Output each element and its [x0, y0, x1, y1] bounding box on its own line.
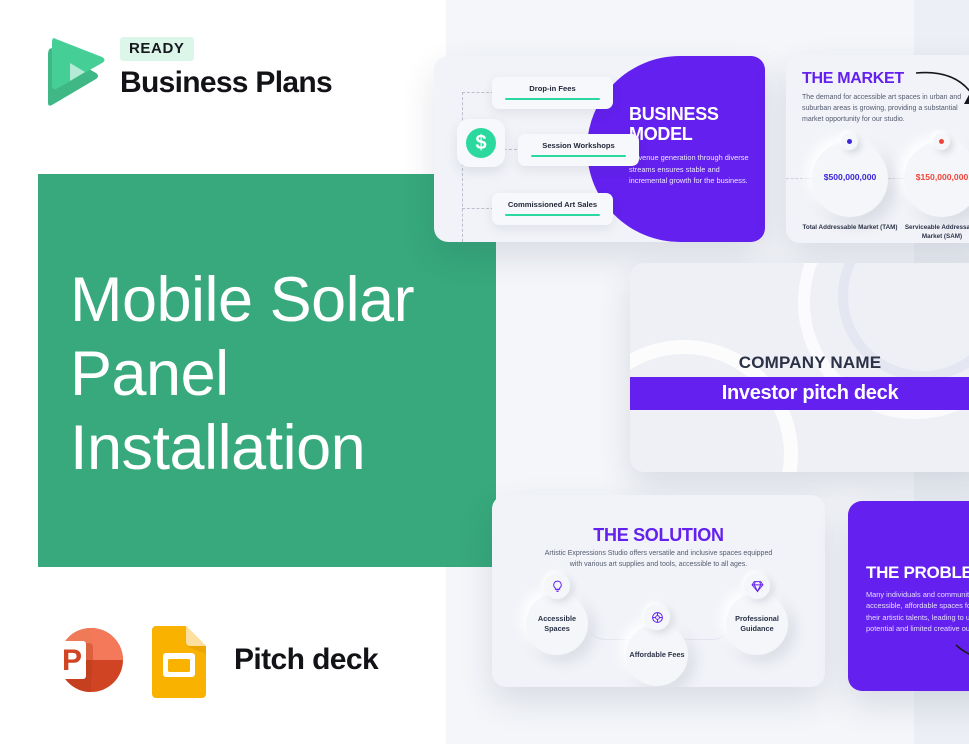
market-metric-label: Serviceable Addressable Market (SAM): [894, 224, 969, 241]
revenue-item-label: Session Workshops: [531, 141, 626, 150]
svg-text:P: P: [62, 644, 82, 677]
market-metric-value: $500,000,000: [812, 172, 888, 182]
solution-body: Artistic Expressions Studio offers versa…: [542, 549, 775, 570]
business-model-heading: BUSINESS MODEL: [629, 104, 765, 144]
curved-arrow-icon: [954, 641, 969, 671]
connector-line: [462, 208, 494, 209]
connector-line: [786, 178, 812, 179]
powerpoint-icon: P: [40, 615, 130, 705]
slide-business-model[interactable]: BUSINESS MODEL Revenue generation throug…: [434, 56, 765, 242]
solution-item[interactable]: Professional Guidance: [726, 593, 788, 655]
market-metric-gauge: $500,000,000: [812, 141, 888, 217]
revenue-item-label: Commissioned Art Sales: [505, 200, 600, 209]
metric-indicator-dot: [841, 133, 858, 150]
play-triangle-logo-icon: [40, 35, 106, 107]
slide-the-problem[interactable]: THE PROBLEM Many individuals and communi…: [848, 501, 969, 691]
slide-the-market[interactable]: THE MARKET The demand for accessible art…: [786, 55, 969, 243]
solution-item[interactable]: Affordable Fees: [626, 624, 688, 686]
google-slides-icon: [148, 622, 210, 698]
business-model-body: Revenue generation through diverse strea…: [629, 152, 754, 187]
market-metric-gauge: $150,000,000: [904, 141, 969, 217]
problem-body: Many individuals and communities lack ac…: [866, 589, 969, 635]
market-heading: THE MARKET: [802, 70, 904, 88]
pitch-deck-subtitle: Investor pitch deck: [630, 377, 969, 410]
solution-item[interactable]: Accessible Spaces: [526, 593, 588, 655]
brand-name: Business Plans: [120, 66, 332, 100]
revenue-item-card[interactable]: Drop-in Fees: [492, 77, 613, 109]
connector-line: [888, 178, 904, 179]
underline-accent: [531, 155, 626, 157]
solution-item-label: Accessible Spaces: [526, 614, 588, 634]
curved-arrow-icon: [914, 67, 969, 113]
connector-line: [462, 92, 494, 93]
company-name: COMPANY NAME: [630, 353, 969, 373]
revenue-item-label: Drop-in Fees: [505, 84, 600, 93]
solution-item-label: Professional Guidance: [726, 614, 788, 634]
solution-heading: THE SOLUTION: [492, 525, 825, 546]
dollar-sign-icon: $: [457, 119, 505, 167]
revenue-item-card[interactable]: Commissioned Art Sales: [492, 193, 613, 225]
pitch-deck-label: Pitch deck: [234, 643, 378, 677]
ready-badge: READY: [120, 37, 194, 61]
slide-the-solution[interactable]: THE SOLUTION Artistic Expressions Studio…: [492, 495, 825, 687]
connector-line: [462, 92, 463, 242]
problem-heading: THE PROBLEM: [866, 563, 969, 583]
page-title: Mobile Solar Panel Installation: [70, 263, 470, 485]
format-badges: P Pitch deck: [40, 615, 378, 705]
market-metric-value: $150,000,000: [904, 172, 969, 182]
solution-item-label: Affordable Fees: [626, 650, 688, 660]
lightbulb-icon: [544, 573, 570, 599]
target-icon: [644, 604, 670, 630]
slide-investor-pitch-deck[interactable]: COMPANY NAME Investor pitch deck: [630, 263, 969, 472]
diamond-icon: [744, 573, 770, 599]
underline-accent: [505, 98, 600, 100]
poster-canvas: READY Business Plans Mobile Solar Panel …: [0, 0, 969, 744]
pitch-deck-banner: Investor pitch deck: [630, 377, 969, 410]
underline-accent: [505, 214, 600, 216]
metric-indicator-dot: [933, 133, 950, 150]
market-metric-label: Total Addressable Market (TAM): [802, 224, 898, 233]
revenue-item-card[interactable]: Session Workshops: [518, 134, 639, 166]
brand-wordmark: READY Business Plans: [120, 37, 332, 100]
brand-logo[interactable]: READY Business Plans: [40, 35, 340, 115]
